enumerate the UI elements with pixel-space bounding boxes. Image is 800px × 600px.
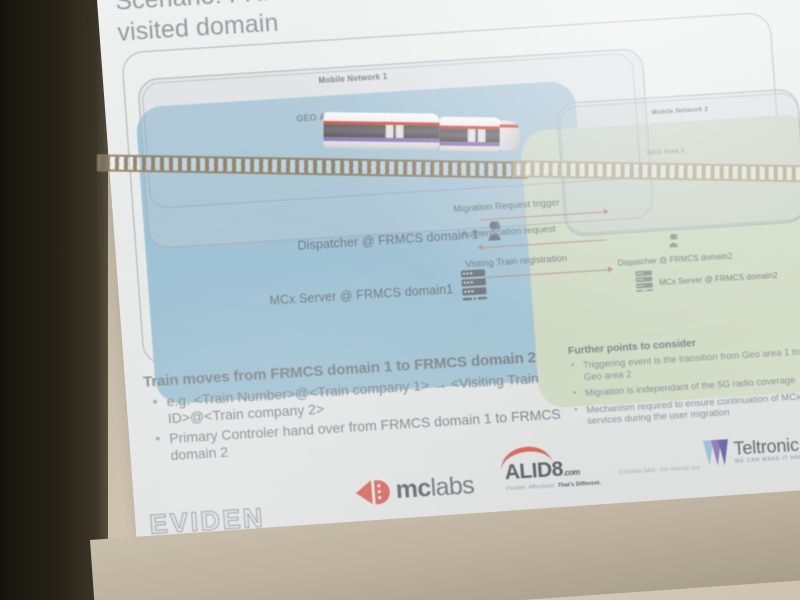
dispatcher-icon xyxy=(666,232,682,254)
mcx-server-1-label: MCx Server @ FRMCS domain1 xyxy=(269,282,454,308)
mcx-server-2-label: MCx Server @ FRMCS domain2 xyxy=(659,271,778,287)
arrow-head-left xyxy=(477,244,482,250)
teltronic-logo: Teltronic WE CAN MAKE IT HAPPEN xyxy=(703,434,800,467)
right-bullet-list: Triggering event is the transition from … xyxy=(569,345,800,428)
train-nose-stripe xyxy=(500,124,519,127)
valid8-logo-com: .com xyxy=(563,468,580,478)
presentation-slide: Scenario: FRMCS User relocating from hom… xyxy=(96,0,800,562)
mclabs-logo-bold: mc xyxy=(395,474,432,504)
arrow-head-right xyxy=(608,266,613,272)
projection-screen: Scenario: FRMCS User relocating from hom… xyxy=(96,0,800,572)
train-illustration xyxy=(323,112,521,161)
arrow-label-visiting-train-registration: Visting Train registration xyxy=(465,253,567,270)
arrow-head-right xyxy=(604,208,609,214)
photo-scene: MOCOLOR Scenario: FRMCS User relocating … xyxy=(0,0,800,600)
mclabs-logo-light: labs xyxy=(430,471,475,502)
dark-curtain xyxy=(0,0,108,600)
train-car-2 xyxy=(440,117,502,152)
mclabs-mark-icon xyxy=(355,479,391,505)
valid8-logo: ALID8.com Flexible. Affordable. That's D… xyxy=(504,455,601,492)
mclabs-logo: mclabs xyxy=(355,471,475,507)
teltronic-mark-icon xyxy=(703,439,731,467)
arrow-label-authentication-request: Authentication request xyxy=(461,224,556,241)
bottom-right-column: Further points to consider Triggering ev… xyxy=(568,329,800,433)
dispatcher-1-label: Dispatcher @ FRMCS domain 1 xyxy=(297,227,479,252)
copyright-notice: © Eviden SAS - For internal use xyxy=(619,465,700,476)
message-flow-arrows: Migration Request trigger Authentication… xyxy=(453,191,661,321)
train-car-1 xyxy=(323,112,439,150)
